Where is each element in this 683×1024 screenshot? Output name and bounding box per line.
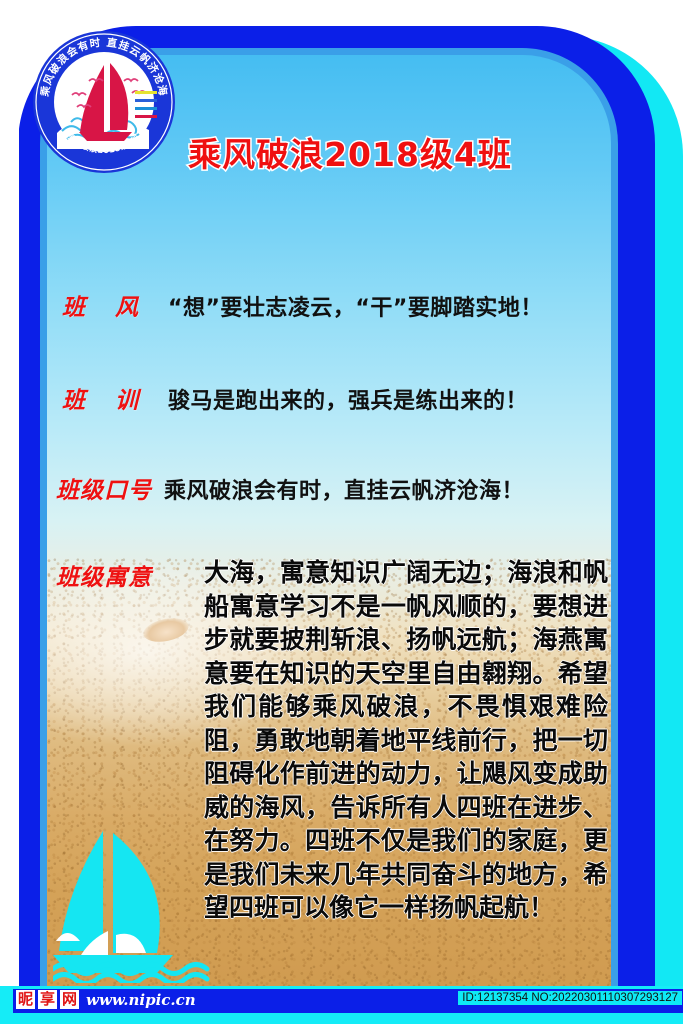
brand-logo-chars: 昵 享 网 xyxy=(16,990,79,1009)
brand-char-3: 网 xyxy=(60,990,79,1009)
footer-brand: 昵 享 网 www.nipic.cn xyxy=(16,990,196,1009)
info-row-class-style: 班风 “想”要壮志凌云，“干”要脚踏实地！ xyxy=(62,288,543,322)
footer-watermark-bar: 昵 享 网 www.nipic.cn ID:12137354 NO:202203… xyxy=(0,986,683,1024)
brand-char-1: 昵 xyxy=(16,990,35,1009)
info-row-class-slogan: 班级口号 乘风破浪会有时，直挂云帆济沧海！ xyxy=(56,471,524,505)
seashell xyxy=(141,614,191,645)
info-row-text: 乘风破浪会有时，直挂云帆济沧海！ xyxy=(164,473,524,505)
sailboat-icon xyxy=(53,823,228,983)
asset-id-text: ID:12137354 NO:20220301110307293127 xyxy=(458,991,682,1005)
info-row-label: 班级口号 xyxy=(56,471,152,505)
info-row-label: 班风 xyxy=(62,288,168,322)
info-row-class-motto: 班训 骏马是跑出来的，强兵是练出来的！ xyxy=(62,381,528,415)
class-meaning-paragraph: 大海，寓意知识广阔无边；海浪和帆船寓意学习不是一帆风顺的，要想进步就要披荆斩浪、… xyxy=(204,556,608,925)
poster-root: 乘风破浪会有时 直挂云帆济沧海 乘风破浪2018级4班 乘风破浪2018级4班 … xyxy=(0,0,683,1024)
info-row-text: 骏马是跑出来的，强兵是练出来的！ xyxy=(168,383,528,415)
info-row-text: “想”要壮志凌云，“干”要脚踏实地！ xyxy=(168,290,543,322)
info-row-label: 班训 xyxy=(62,381,168,415)
brand-url-link[interactable]: www.nipic.cn xyxy=(86,991,196,1009)
info-row-label-class-meaning: 班级寓意 xyxy=(56,558,152,592)
brand-char-2: 享 xyxy=(38,990,57,1009)
poster-title: 乘风破浪2018级4班 xyxy=(150,128,550,176)
frame-left-white-sliver xyxy=(0,120,19,1006)
